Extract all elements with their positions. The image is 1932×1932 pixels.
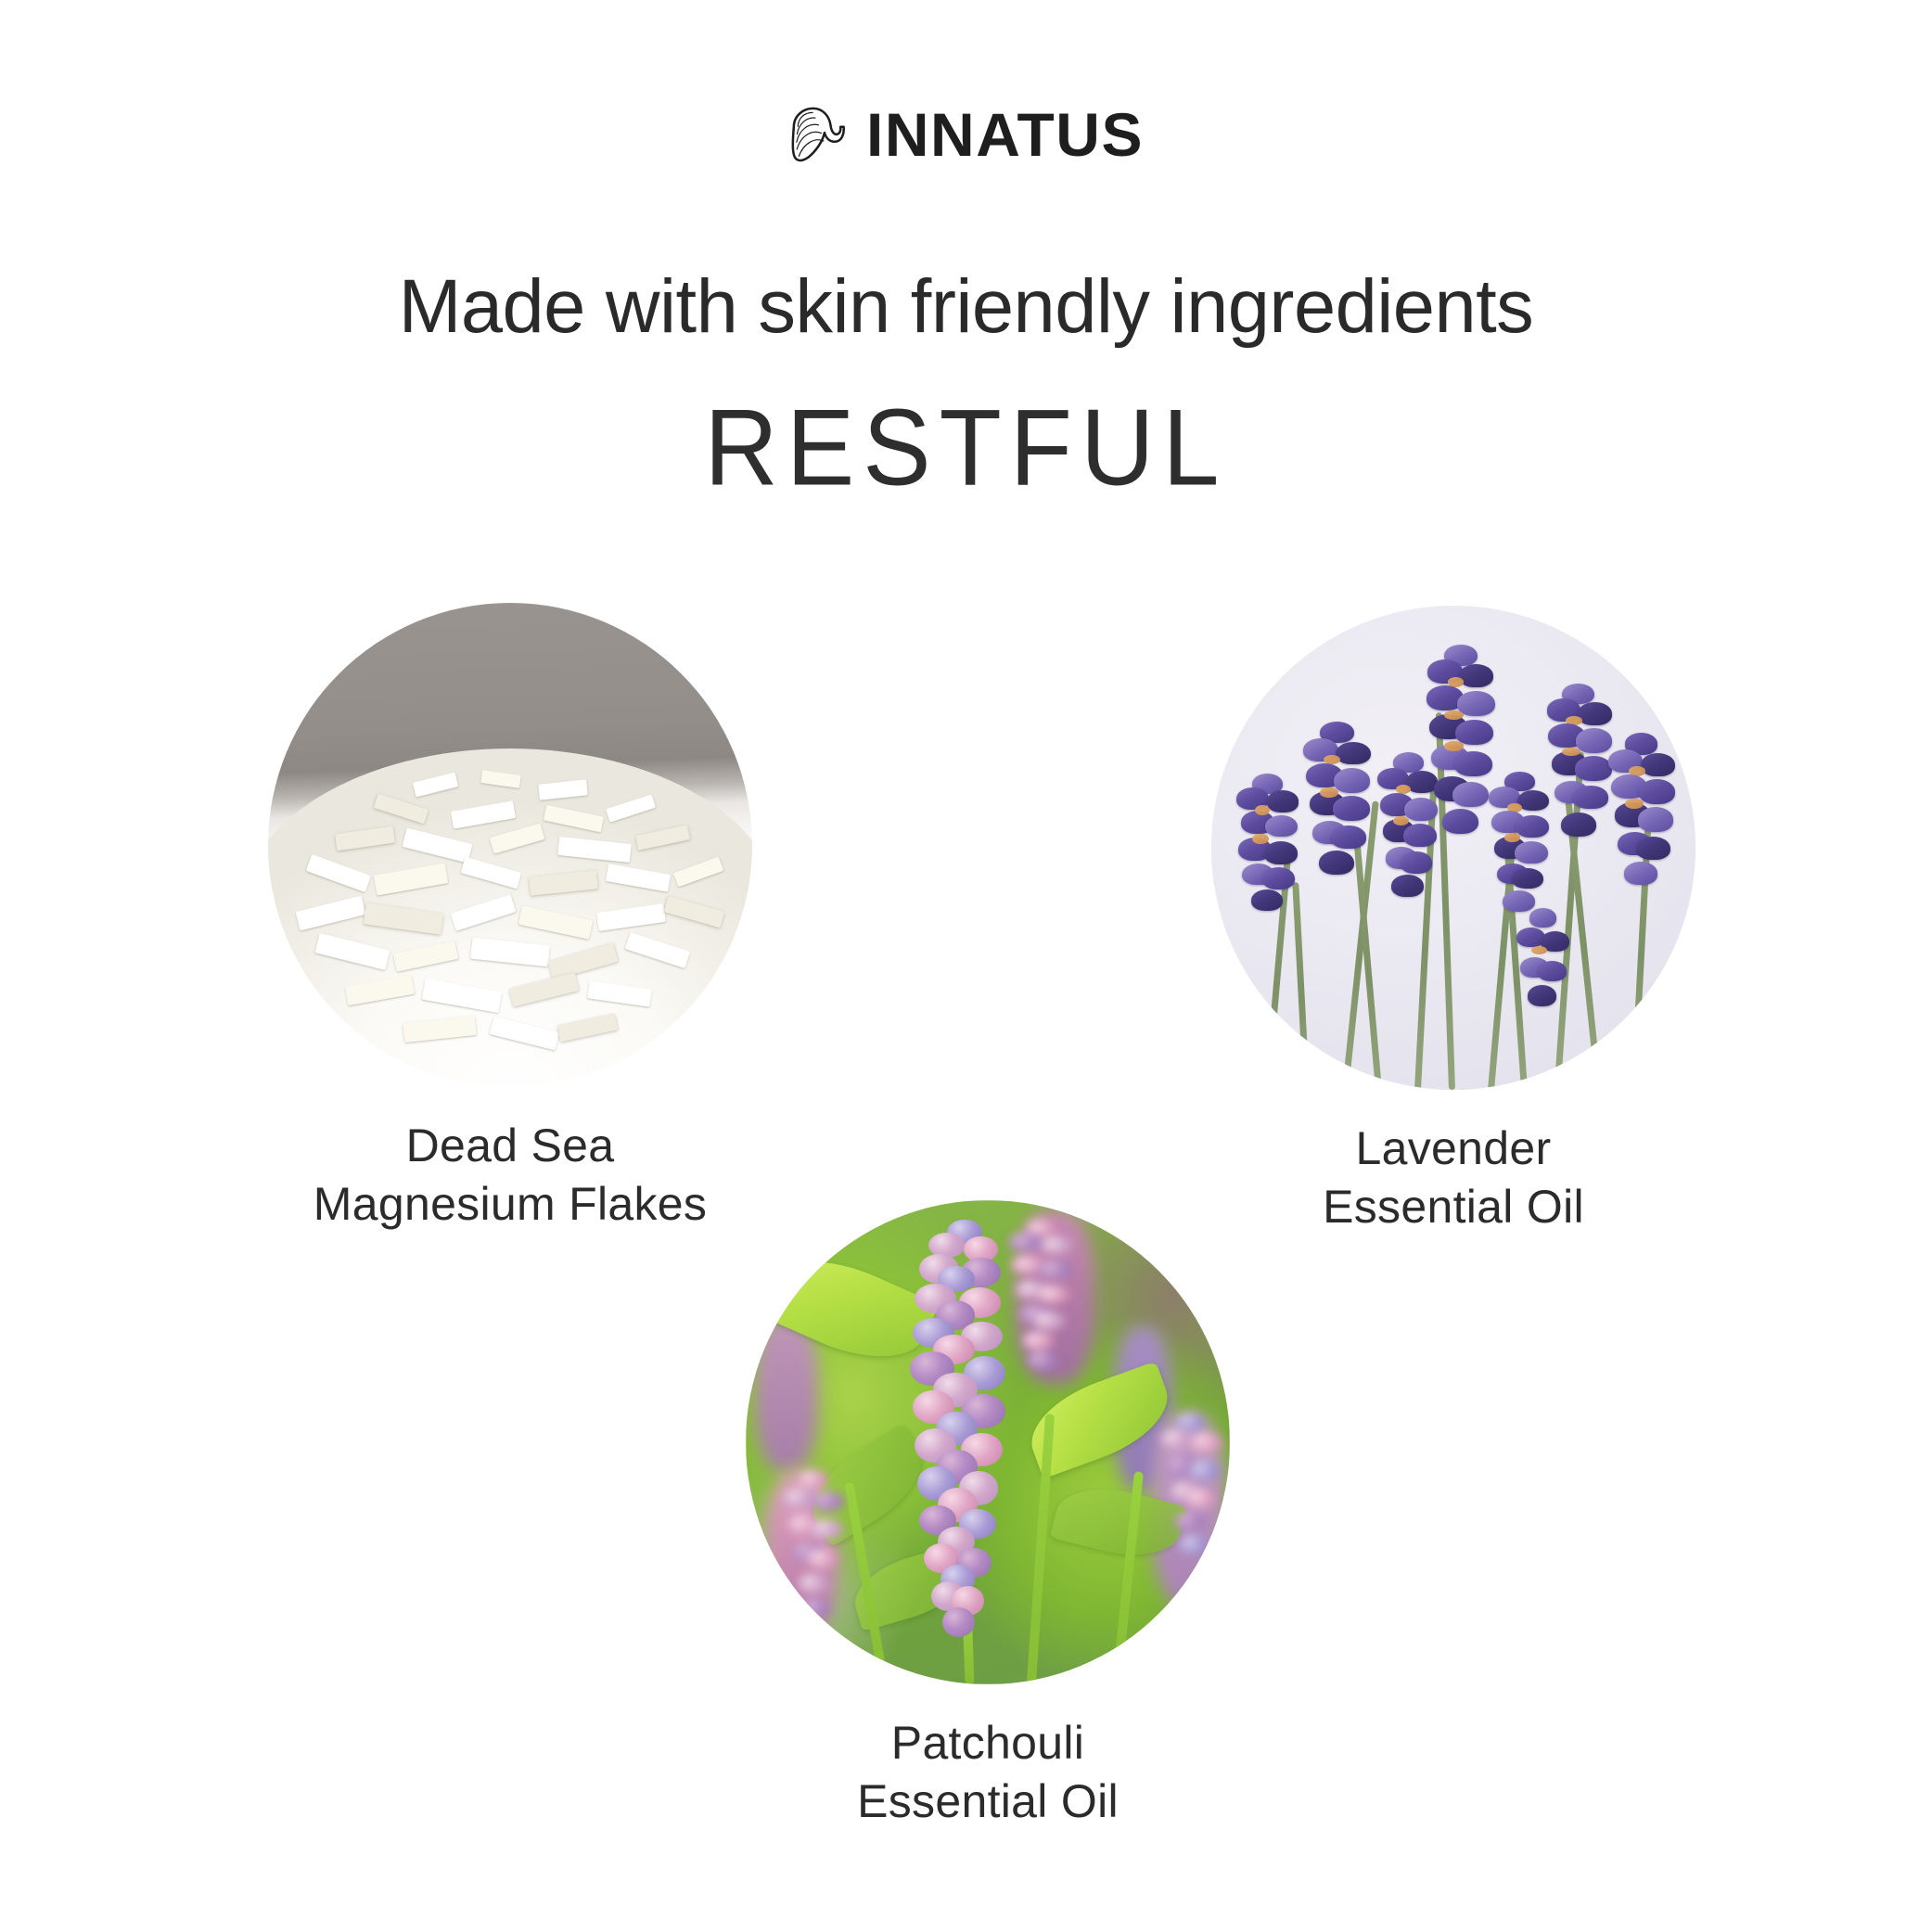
ingredient-name-line1: Patchouli bbox=[891, 1717, 1084, 1769]
ingredient-name-line1: Dead Sea bbox=[406, 1120, 615, 1171]
ingredient-caption: Dead Sea Magnesium Flakes bbox=[213, 1117, 807, 1234]
tagline: Made with skin friendly ingredients bbox=[9, 267, 1922, 347]
brand-name: INNATUS bbox=[866, 104, 1144, 165]
ingredient-name-line1: Lavender bbox=[1356, 1122, 1552, 1174]
leaf-shell-mark-icon bbox=[788, 106, 846, 163]
ingredient-image-magnesium-flakes bbox=[268, 603, 752, 1087]
ingredient-name-line2: Magnesium Flakes bbox=[213, 1175, 807, 1234]
ingredient-name-line2: Essential Oil bbox=[691, 1772, 1285, 1831]
ingredient-caption: Patchouli Essential Oil bbox=[691, 1714, 1285, 1831]
ingredient-patchouli-essential-oil: Patchouli Essential Oil bbox=[746, 1200, 1285, 1831]
ingredient-dead-sea-magnesium-flakes: Dead Sea Magnesium Flakes bbox=[268, 603, 807, 1234]
product-title: RESTFUL bbox=[0, 394, 1932, 503]
brand-logo: INNATUS bbox=[0, 104, 1932, 165]
ingredient-image-lavender bbox=[1211, 606, 1695, 1090]
ingredient-lavender-essential-oil: Lavender Essential Oil bbox=[1211, 606, 1750, 1236]
ingredient-image-patchouli bbox=[746, 1200, 1230, 1684]
